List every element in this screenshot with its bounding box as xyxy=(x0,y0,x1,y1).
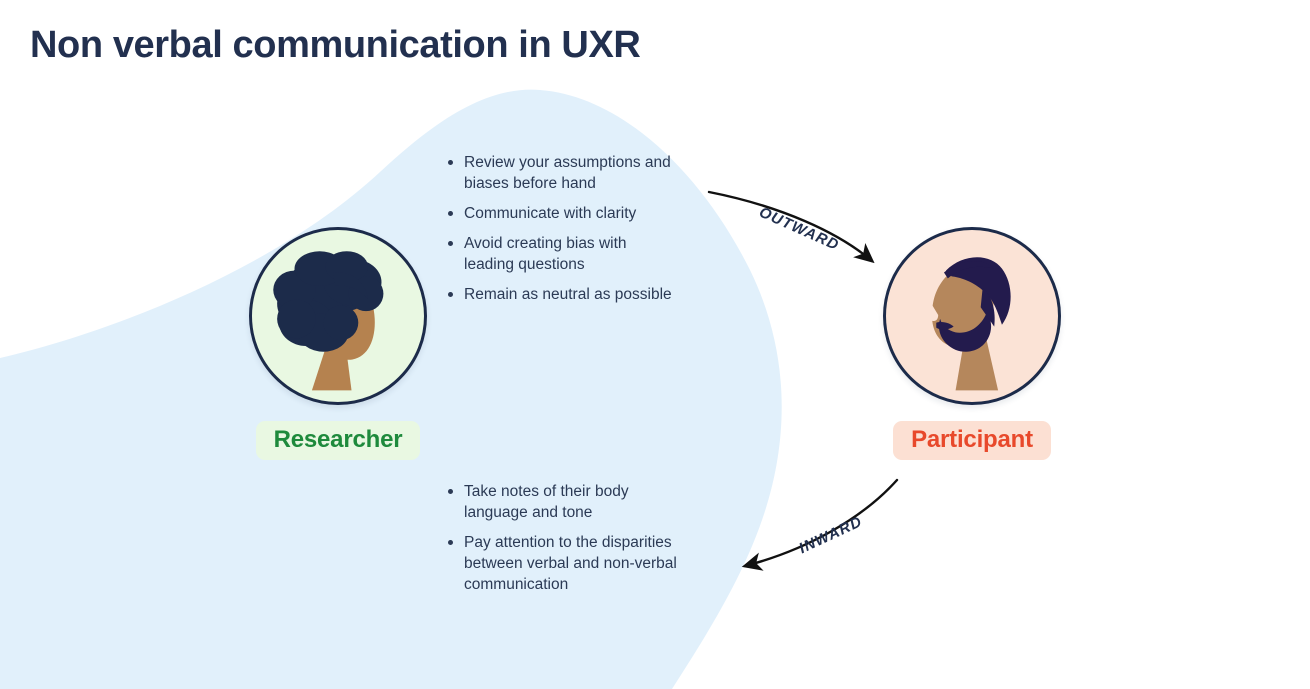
diagram-canvas: Non verbal communication in UXR Review y… xyxy=(0,0,1310,689)
outward-bullet-text: Review your assumptions and biases befor… xyxy=(464,154,671,192)
researcher-profile-avatar-icon xyxy=(252,230,424,402)
inward-bullet-list: Take notes of their body language and to… xyxy=(444,481,684,604)
list-item: Review your assumptions and biases befor… xyxy=(444,152,680,194)
participant-badge: Participant xyxy=(893,421,1051,460)
participant-avatar xyxy=(883,227,1061,405)
inward-bullet-text: Pay attention to the disparities between… xyxy=(464,534,677,593)
participant-actor: Participant xyxy=(883,227,1061,460)
list-item: Take notes of their body language and to… xyxy=(444,481,684,523)
outward-bullet-text: Avoid creating bias with leading questio… xyxy=(464,235,627,273)
researcher-actor: Researcher xyxy=(249,227,427,460)
list-item: Pay attention to the disparities between… xyxy=(444,532,684,595)
inward-bullet-text: Take notes of their body language and to… xyxy=(464,483,629,521)
page-title: Non verbal communication in UXR xyxy=(30,24,640,67)
researcher-badge: Researcher xyxy=(256,421,421,460)
outward-bullet-text: Communicate with clarity xyxy=(464,205,636,222)
outward-bullet-list: Review your assumptions and biases befor… xyxy=(444,152,680,314)
participant-profile-avatar-icon xyxy=(886,230,1058,402)
list-item: Remain as neutral as possible xyxy=(444,284,680,305)
outward-bullet-text: Remain as neutral as possible xyxy=(464,286,672,303)
list-item: Communicate with clarity xyxy=(444,203,680,224)
list-item: Avoid creating bias with leading questio… xyxy=(444,233,680,275)
researcher-avatar xyxy=(249,227,427,405)
